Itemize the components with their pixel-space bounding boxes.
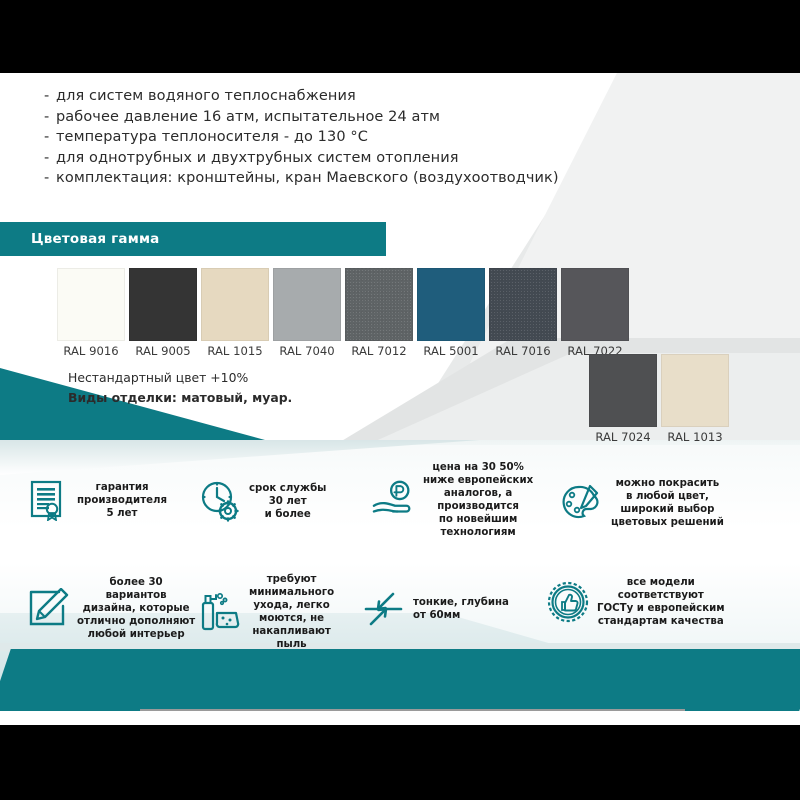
slide-canvas: -для систем водяного теплоснабжения -раб…	[0, 73, 800, 725]
bullet-dash: -	[44, 168, 56, 189]
feature-text-line: моются, не	[249, 612, 334, 625]
feature-text-line: от 60мм	[413, 609, 509, 622]
feature-text-line: отлично дополняют	[77, 615, 195, 628]
color-swatch-chip	[201, 268, 269, 341]
spec-bullet-text: температура теплоносителя - до 130 °C	[56, 129, 368, 145]
note-finish-types: Виды отделки: матовый, муар.	[68, 388, 292, 408]
color-swatch[interactable]: RAL 5001	[417, 268, 485, 341]
color-swatch-chip	[345, 268, 413, 341]
bullet-dash: -	[44, 107, 56, 128]
feature-text-line: 5 лет	[77, 507, 167, 520]
color-swatch-label: RAL 9016	[63, 344, 118, 358]
feature-text-line: более 30	[77, 576, 195, 589]
color-swatch-chip	[57, 268, 125, 341]
feature-depth: тонкие, глубинаот 60мм	[362, 587, 509, 631]
color-swatch[interactable]: RAL 7040	[273, 268, 341, 341]
feature-warranty: гарантияпроизводителя5 лет	[26, 478, 167, 522]
spec-bullet-item: -для систем водяного теплоснабжения	[44, 86, 644, 107]
spec-bullet-list: -для систем водяного теплоснабжения -раб…	[44, 86, 644, 189]
feature-text-line: любой интерьер	[77, 628, 195, 641]
feature-text-line: тонкие, глубина	[413, 596, 509, 609]
feature-text-line: цветовых решений	[611, 516, 724, 529]
color-swatch-chip	[489, 268, 557, 341]
color-swatch[interactable]: RAL 7024	[589, 354, 657, 427]
palette-brush-icon	[560, 481, 604, 525]
bottom-white-strip	[0, 711, 800, 725]
color-swatch[interactable]: RAL 9016	[57, 268, 125, 341]
bottom-teal-band	[0, 649, 800, 711]
bullet-dash: -	[44, 127, 56, 148]
feature-text-line: соответствуют	[597, 589, 725, 602]
spec-bullet-item: -комплектация: кронштейны, кран Маевског…	[44, 168, 644, 189]
color-swatch-label: RAL 7012	[351, 344, 406, 358]
spec-bullet-text: комплектация: кронштейны, кран Маевского…	[56, 170, 559, 186]
feature-text-line: стандартам качества	[597, 615, 725, 628]
color-range-header: Цветовая гамма	[0, 222, 386, 256]
color-swatch[interactable]: RAL 1015	[201, 268, 269, 341]
slide: -для систем водяного теплоснабжения -раб…	[0, 0, 800, 800]
feature-design: более 30вариантовдизайна, которыеотлично…	[26, 576, 195, 641]
background-diagonal-middle-2	[360, 353, 800, 448]
color-swatch-chip	[661, 354, 729, 427]
color-swatch-label: RAL 1013	[667, 430, 722, 444]
feature-text-line: дизайна, которые	[77, 602, 195, 615]
feature-text-line: широкий выбор	[611, 503, 724, 516]
feature-quality-text: все моделисоответствуютГОСТу и европейск…	[597, 576, 725, 628]
feature-service-life-text: срок службы30 лети более	[249, 482, 326, 521]
spec-bullet-text: для однотрубных и двухтрубных систем ото…	[56, 150, 459, 166]
certificate-icon	[26, 478, 70, 522]
color-swatch-label: RAL 9005	[135, 344, 190, 358]
bottom-band-shadow	[140, 709, 685, 714]
feature-text-line: 30 лет	[249, 495, 326, 508]
color-swatch[interactable]: RAL 7022	[561, 268, 629, 341]
spec-bullet-item: -температура теплоносителя - до 130 °C	[44, 127, 644, 148]
spec-bullet-item: -рабочее давление 16 атм, испытательное …	[44, 107, 644, 128]
swatch-row-secondary: RAL 7024RAL 1013	[589, 354, 733, 427]
feature-text-line: ГОСТу и европейским	[597, 602, 725, 615]
color-swatch-chip	[417, 268, 485, 341]
color-swatch-label: RAL 5001	[423, 344, 478, 358]
spec-bullet-text: рабочее давление 16 атм, испытательное 2…	[56, 109, 440, 125]
feature-text-line: срок службы	[249, 482, 326, 495]
feature-maintenance: требуютминимальногоухода, легкомоются, н…	[198, 573, 334, 651]
feature-text-line: пыль	[249, 638, 334, 651]
bullet-dash: -	[44, 86, 56, 107]
feature-quality: все моделисоответствуютГОСТу и европейск…	[546, 576, 725, 628]
color-swatch[interactable]: RAL 7016	[489, 268, 557, 341]
clock-gear-icon	[198, 479, 242, 523]
feature-price: цена на 30 50%ниже европейскиханалогов, …	[372, 461, 533, 539]
feature-text-line: минимального	[249, 586, 334, 599]
feature-text-line: вариантов	[77, 589, 195, 602]
feature-text-line: накапливают	[249, 625, 334, 638]
pencil-design-icon	[26, 587, 70, 631]
feature-text-line: производится	[423, 500, 533, 513]
feature-text-line: в любой цвет,	[611, 490, 724, 503]
spec-bullet-text: для систем водяного теплоснабжения	[56, 88, 356, 104]
feature-design-text: более 30вариантовдизайна, которыеотлично…	[77, 576, 195, 641]
feature-text-line: ниже европейских	[423, 474, 533, 487]
quality-badge-icon	[546, 580, 590, 624]
spray-sponge-icon	[198, 590, 242, 634]
feature-text-line: и более	[249, 508, 326, 521]
feature-price-text: цена на 30 50%ниже европейскиханалогов, …	[423, 461, 533, 539]
feature-text-line: производителя	[77, 494, 167, 507]
feature-text-line: гарантия	[77, 481, 167, 494]
spec-bullet-item: -для однотрубных и двухтрубных систем от…	[44, 148, 644, 169]
feature-text-line: аналогов, а	[423, 487, 533, 500]
swatch-row-primary: RAL 9016RAL 9005RAL 1015RAL 7040RAL 7012…	[57, 268, 633, 341]
color-notes: Нестандартный цвет +10% Виды отделки: ма…	[68, 368, 292, 408]
hand-ruble-icon	[372, 478, 416, 522]
color-swatch-chip	[561, 268, 629, 341]
color-swatch[interactable]: RAL 7012	[345, 268, 413, 341]
feature-text-line: по новейшим	[423, 513, 533, 526]
feature-paint-text: можно покраситьв любой цвет,широкий выбо…	[611, 477, 724, 529]
color-swatch[interactable]: RAL 1013	[661, 354, 729, 427]
color-swatch-label: RAL 7016	[495, 344, 550, 358]
feature-text-line: можно покрасить	[611, 477, 724, 490]
feature-depth-text: тонкие, глубинаот 60мм	[413, 596, 509, 622]
bullet-dash: -	[44, 148, 56, 169]
feature-maintenance-text: требуютминимальногоухода, легкомоются, н…	[249, 573, 334, 651]
feature-text-line: цена на 30 50%	[423, 461, 533, 474]
feature-text-line: требуют	[249, 573, 334, 586]
feature-text-line: ухода, легко	[249, 599, 334, 612]
depth-arrows-icon	[362, 587, 406, 631]
color-swatch-chip	[129, 268, 197, 341]
feature-text-line: технологиям	[423, 526, 533, 539]
feature-service-life: срок службы30 лети более	[198, 479, 326, 523]
color-swatch[interactable]: RAL 9005	[129, 268, 197, 341]
feature-paint: можно покраситьв любой цвет,широкий выбо…	[560, 477, 724, 529]
color-swatch-chip	[589, 354, 657, 427]
color-swatch-label: RAL 7024	[595, 430, 650, 444]
color-range-title: Цветовая гамма	[31, 231, 160, 247]
bottom-strip	[0, 643, 800, 651]
feature-warranty-text: гарантияпроизводителя5 лет	[77, 481, 167, 520]
note-custom-color: Нестандартный цвет +10%	[68, 368, 292, 388]
feature-text-line: все модели	[597, 576, 725, 589]
color-swatch-chip	[273, 268, 341, 341]
color-swatch-label: RAL 7040	[279, 344, 334, 358]
color-swatch-label: RAL 1015	[207, 344, 262, 358]
